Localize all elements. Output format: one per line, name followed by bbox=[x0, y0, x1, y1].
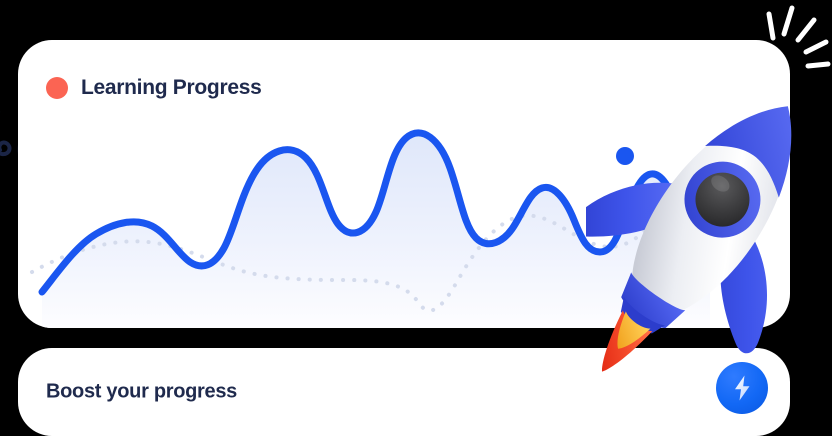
lightning-bolt-icon bbox=[730, 374, 754, 402]
boost-action-button[interactable] bbox=[716, 362, 768, 414]
card-header: Learning Progress bbox=[46, 76, 261, 100]
page-title: Learning Progress bbox=[81, 76, 261, 100]
boost-progress-card: Boost your progress bbox=[18, 348, 790, 436]
chart-area-fill bbox=[42, 133, 710, 328]
boost-action-button-ring bbox=[712, 358, 772, 418]
boost-label: Boost your progress bbox=[46, 381, 237, 404]
chart-latest-point-marker[interactable] bbox=[616, 147, 634, 165]
app-root: Learning Progress Boost your progress bbox=[0, 0, 832, 436]
status-dot bbox=[46, 77, 68, 99]
learning-progress-card: Learning Progress bbox=[18, 40, 790, 328]
